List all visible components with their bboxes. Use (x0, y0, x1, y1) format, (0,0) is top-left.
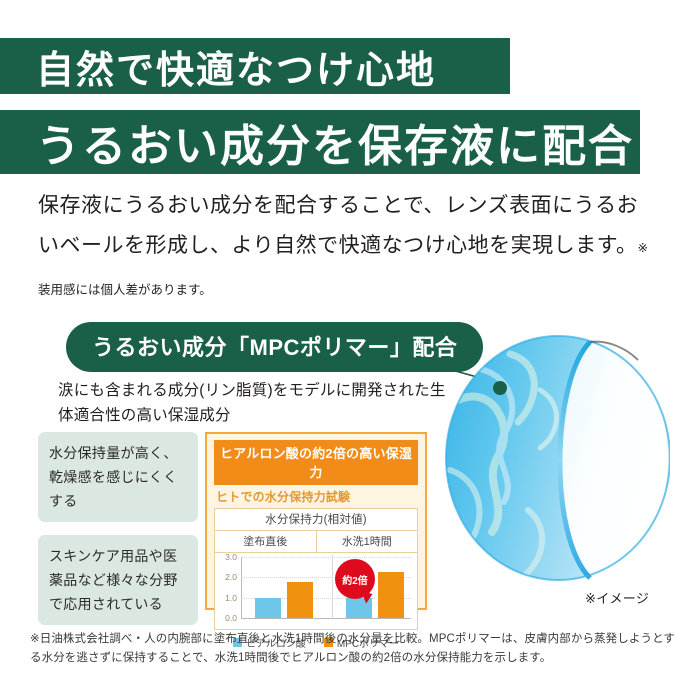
chart-group-labels: 塗布直後 水洗1時間 (215, 531, 417, 553)
chart-bar-mpc-immediate (287, 582, 313, 618)
panel-header: ヒアルロン酸の約2倍の高い保湿力 (214, 440, 418, 485)
chart-y-axis (241, 557, 242, 619)
footnote: ※日油株式会社調べ・人の内腕部に塗布直後と水洗1時間後の水分量を比較。MPCポリ… (30, 630, 675, 668)
chart-ytick-3: 3.0 (217, 552, 237, 562)
panel-subtitle: ヒトでの水分保持力試験 (214, 485, 418, 508)
contact-lens-illustration (440, 330, 670, 592)
info-box-moisture-retention: 水分保持量が高く、乾燥感を感じにくくする (38, 432, 198, 522)
moisture-retention-panel: ヒアルロン酸の約2倍の高い保湿力 ヒトでの水分保持力試験 水分保持力(相対値) … (205, 432, 427, 610)
mpc-polymer-pill-label: うるおい成分「MPCポリマー」配合 (92, 335, 457, 360)
headline-banner-1: 自然で快適なつけ心地 (0, 38, 510, 94)
chart-title: 水分保持力(相対値) (215, 509, 417, 531)
headline-banner-1-text: 自然で快適なつけ心地 (36, 39, 436, 94)
chart-ytick-0: 0.0 (217, 613, 237, 623)
headline-banner-2-text: うるおい成分を保存液に配合 (36, 110, 634, 174)
chart-gridline-3 (241, 557, 411, 558)
chart-group-separator (332, 555, 333, 619)
chart-group-label-1: 水洗1時間 (317, 531, 418, 552)
info-box-applications: スキンケア用品や医薬品など様々な分野で応用されている (38, 535, 198, 625)
lead-paragraph: 保存液にうるおい成分を配合することで、レンズ表面にうるおいベールを形成し、より自… (38, 186, 658, 310)
chart-group-label-0: 塗布直後 (215, 531, 317, 552)
approx-2x-badge: 約2倍 (335, 559, 375, 599)
chart-x-axis (241, 618, 411, 619)
chart-bar-mpc-1hour (378, 572, 404, 618)
chart-ytick-2: 2.0 (217, 572, 237, 582)
chart-bar-hyaluronic-immediate (255, 598, 281, 618)
mpc-polymer-pill: うるおい成分「MPCポリマー」配合 (66, 322, 483, 372)
mpc-polymer-description: 涙にも含まれる成分(リン脂質)をモデルに開発された生体適合性の高い保湿成分 (58, 378, 458, 428)
moisture-retention-chart: 水分保持力(相対値) 塗布直後 水洗1時間 3.0 2.0 1.0 0.0 約2… (214, 508, 418, 630)
chart-ytick-1: 1.0 (217, 593, 237, 603)
headline-banner-2: うるおい成分を保存液に配合 (0, 110, 640, 174)
lens-marker-dot (493, 381, 507, 395)
chart-plot-area: 3.0 2.0 1.0 0.0 約2倍 (215, 553, 417, 631)
lead-paragraph-text: 保存液にうるおい成分を配合することで、レンズ表面にうるおいベールを形成し、より自… (38, 194, 638, 257)
lens-caption: ※イメージ (585, 588, 649, 607)
